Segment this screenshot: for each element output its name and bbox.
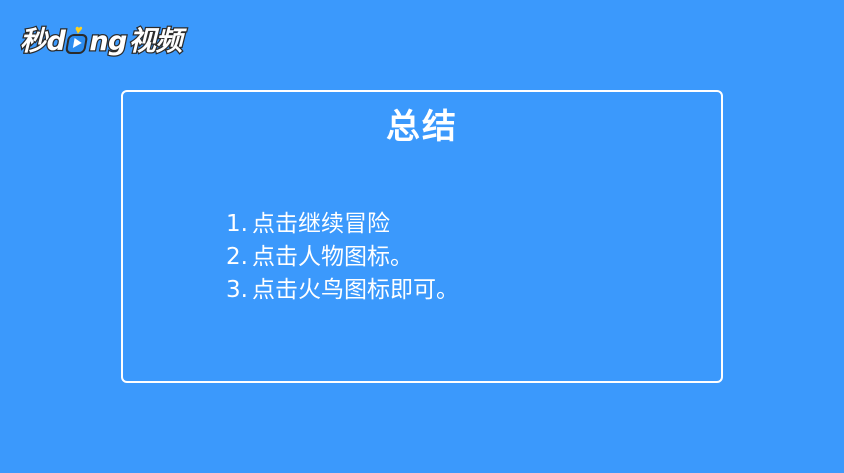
list-item-number: 3.: [226, 274, 252, 307]
list-item: 3. 点击火鸟图标即可。: [226, 274, 459, 307]
logo-text-d: d: [47, 28, 66, 55]
watermark-logo: 秒 d ♥ ng 视频: [20, 22, 182, 60]
card-title: 总结: [123, 109, 721, 146]
heart-icon: ♥: [72, 25, 85, 35]
list-item-number: 2.: [226, 241, 252, 274]
list-item: 1. 点击继续冒险: [226, 208, 459, 241]
list-item: 2. 点击人物图标。: [226, 241, 459, 274]
logo-text-cn-right: 视频: [129, 28, 182, 55]
logo-text-cn-left: 秒: [20, 28, 47, 55]
list-item-number: 1.: [226, 208, 252, 241]
list-item-text: 点击火鸟图标即可。: [252, 274, 459, 307]
slide-canvas: 秒 d ♥ ng 视频 总结 1. 点击继续冒险 2. 点击人物图标。 3. 点…: [0, 0, 844, 473]
list-item-text: 点击继续冒险: [252, 208, 390, 241]
play-button-o-icon: ♥: [64, 28, 91, 55]
summary-card: 总结 1. 点击继续冒险 2. 点击人物图标。 3. 点击火鸟图标即可。: [121, 90, 723, 383]
summary-steps-list: 1. 点击继续冒险 2. 点击人物图标。 3. 点击火鸟图标即可。: [226, 208, 459, 307]
logo-text-ng: ng: [89, 28, 127, 55]
list-item-text: 点击人物图标。: [252, 241, 413, 274]
